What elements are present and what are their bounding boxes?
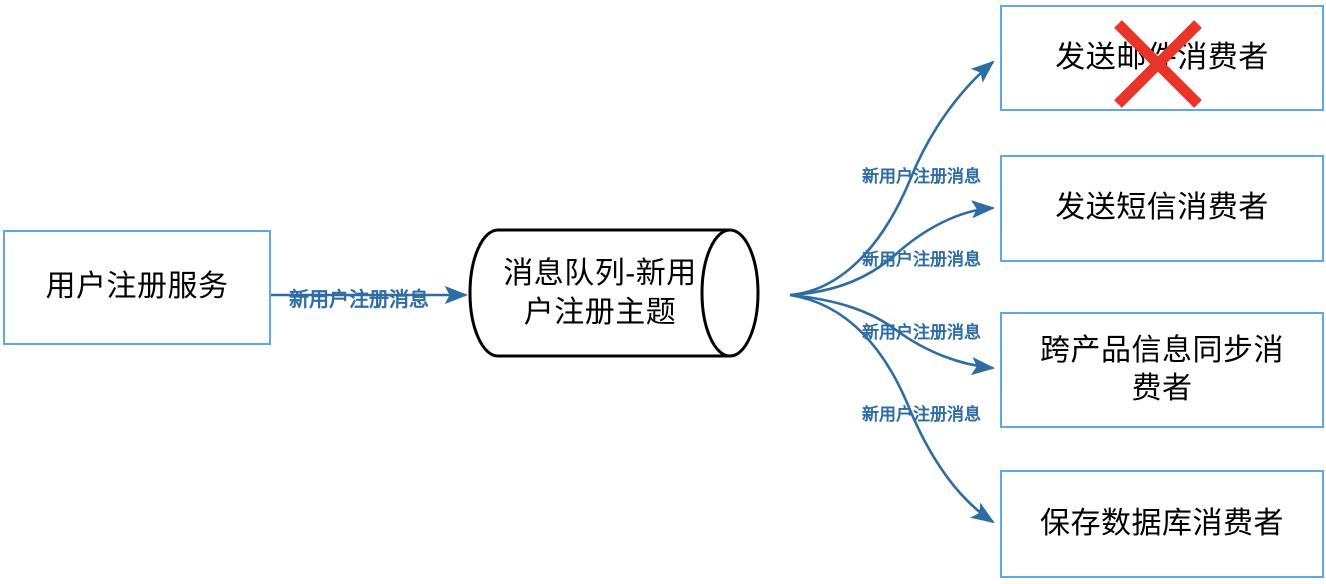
node-send-email-consumer[interactable]: 发送邮件消费者 xyxy=(1000,5,1324,111)
queue-label-line-1: 消息队列-新用 xyxy=(473,254,728,293)
node-send-sms-consumer-label: 发送短信消费者 xyxy=(1045,189,1279,227)
node-send-sms-consumer[interactable]: 发送短信消费者 xyxy=(1000,155,1324,262)
node-user-register-service[interactable]: 用户注册服务 xyxy=(3,230,271,345)
queue-label-line-2: 户注册主题 xyxy=(473,293,728,332)
node-save-database-consumer[interactable]: 保存数据库消费者 xyxy=(1000,470,1324,578)
edge-label-queue-to-send-sms: 新用户注册消息 xyxy=(862,245,981,270)
edge-label-queue-to-send-email: 新用户注册消息 xyxy=(862,162,981,187)
edge-label-queue-to-cross-product-sync: 新用户注册消息 xyxy=(862,318,981,343)
cross-product-label-line-2: 费者 xyxy=(1132,372,1193,405)
node-user-register-service-label: 用户注册服务 xyxy=(36,268,239,306)
edge-label-queue-to-save-database: 新用户注册消息 xyxy=(862,400,981,425)
node-cross-product-sync-consumer-label: 跨产品信息同步消 费者 xyxy=(1030,332,1294,409)
diagram-canvas: 用户注册服务 消息队列-新用 户注册主题 发送邮件消费者 发送短信消费者 跨产品… xyxy=(0,0,1326,584)
edge-label-producer-to-queue: 新用户注册消息 xyxy=(289,283,429,312)
node-message-queue-topic[interactable]: 消息队列-新用 户注册主题 xyxy=(468,228,778,358)
node-send-email-consumer-label: 发送邮件消费者 xyxy=(1045,39,1279,77)
cross-product-label-line-1: 跨产品信息同步消 xyxy=(1040,334,1284,367)
node-cross-product-sync-consumer[interactable]: 跨产品信息同步消 费者 xyxy=(1000,312,1324,428)
node-save-database-consumer-label: 保存数据库消费者 xyxy=(1030,505,1294,543)
node-message-queue-topic-label: 消息队列-新用 户注册主题 xyxy=(473,254,728,332)
